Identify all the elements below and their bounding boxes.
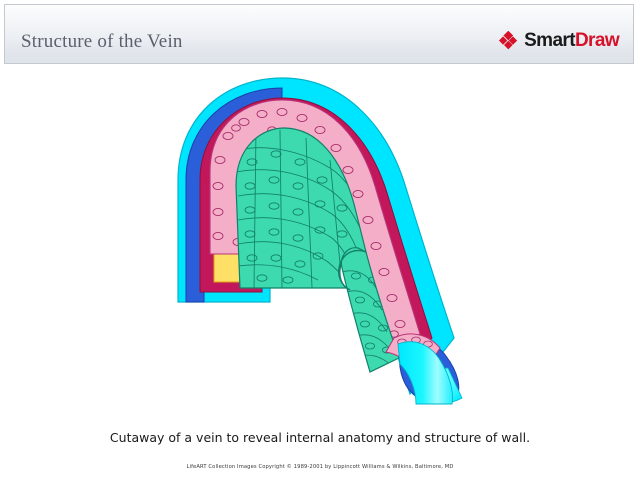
- page-title: Structure of the Vein: [21, 18, 183, 51]
- logo-text-draw: Draw: [575, 30, 619, 51]
- copyright-credit: LifeART Collection Images Copyright © 19…: [0, 464, 640, 470]
- vein-diagram-svg: [170, 76, 470, 406]
- smartdraw-diamond-icon: [499, 31, 518, 50]
- smartdraw-wordmark: SmartDraw: [524, 31, 619, 50]
- figure-caption: Cutaway of a vein to reveal internal ana…: [0, 430, 640, 445]
- vein-cutaway-illustration: [0, 76, 640, 416]
- logo-text-smart: Smart: [524, 30, 575, 51]
- slide-header: Structure of the Vein SmartDraw: [4, 4, 634, 64]
- slide-canvas: Structure of the Vein SmartDraw: [0, 0, 640, 478]
- smartdraw-logo[interactable]: SmartDraw: [499, 19, 619, 50]
